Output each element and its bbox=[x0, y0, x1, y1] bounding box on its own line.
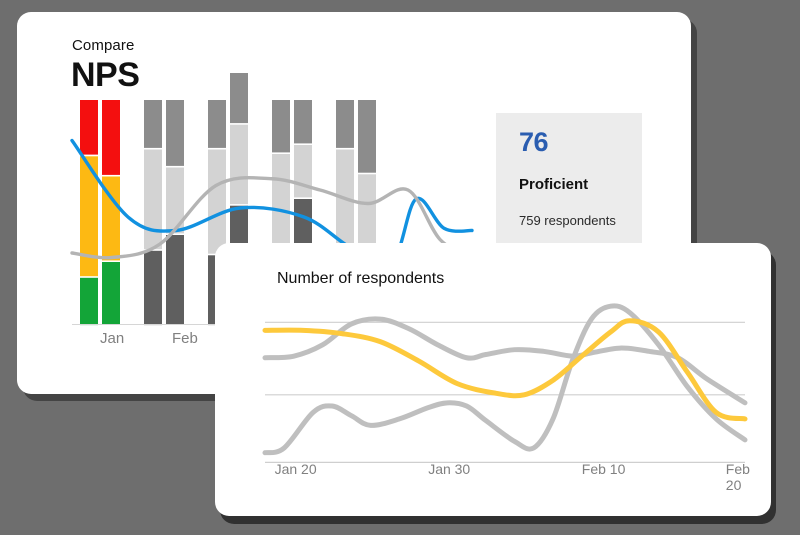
bar-segment bbox=[144, 100, 162, 148]
line-chart-x-labels: Jan 20Jan 30Feb 10Feb 20 bbox=[265, 461, 745, 483]
bar-segment bbox=[80, 100, 98, 155]
bar-segment bbox=[230, 73, 248, 123]
bar-segment bbox=[102, 100, 120, 175]
bar-segment bbox=[272, 100, 290, 152]
nps-respondent-count: 759 respondents bbox=[519, 213, 616, 228]
bar-segment bbox=[294, 100, 312, 143]
nps-score-value: 76 bbox=[519, 127, 548, 158]
bar-segment bbox=[80, 278, 98, 325]
bar-segment bbox=[144, 150, 162, 250]
nps-score-label: Proficient bbox=[519, 176, 588, 193]
bar-segment bbox=[230, 125, 248, 204]
x-axis-label: Feb bbox=[172, 330, 198, 347]
respondents-line-chart bbox=[265, 303, 745, 464]
x-axis-label: Jan 20 bbox=[275, 461, 317, 477]
x-axis-label: Jan 30 bbox=[428, 461, 470, 477]
bar-segment bbox=[336, 100, 354, 148]
respondents-card: Number of respondents Jan 20Jan 30Feb 10… bbox=[215, 243, 771, 516]
bar-segment bbox=[102, 262, 120, 325]
bar-segment bbox=[166, 100, 184, 166]
bar-segment bbox=[358, 100, 376, 173]
bar-segment bbox=[208, 150, 226, 254]
page-title: NPS bbox=[71, 56, 139, 95]
x-axis-label: Feb 20 bbox=[726, 461, 750, 493]
nps-score-box: 76 Proficient 759 respondents bbox=[496, 113, 642, 247]
comparison-series-line bbox=[265, 306, 745, 453]
bar-segment bbox=[272, 154, 290, 249]
bar-segment bbox=[294, 145, 312, 197]
x-axis-label: Feb 10 bbox=[582, 461, 626, 477]
bar-segment bbox=[144, 251, 162, 325]
bar-segment bbox=[208, 100, 226, 148]
line-chart-svg bbox=[265, 303, 745, 464]
respondents-title: Number of respondents bbox=[277, 270, 444, 288]
card-eyebrow: Compare bbox=[72, 37, 134, 54]
x-axis-label: Jan bbox=[100, 330, 124, 347]
bar-segment bbox=[166, 235, 184, 325]
